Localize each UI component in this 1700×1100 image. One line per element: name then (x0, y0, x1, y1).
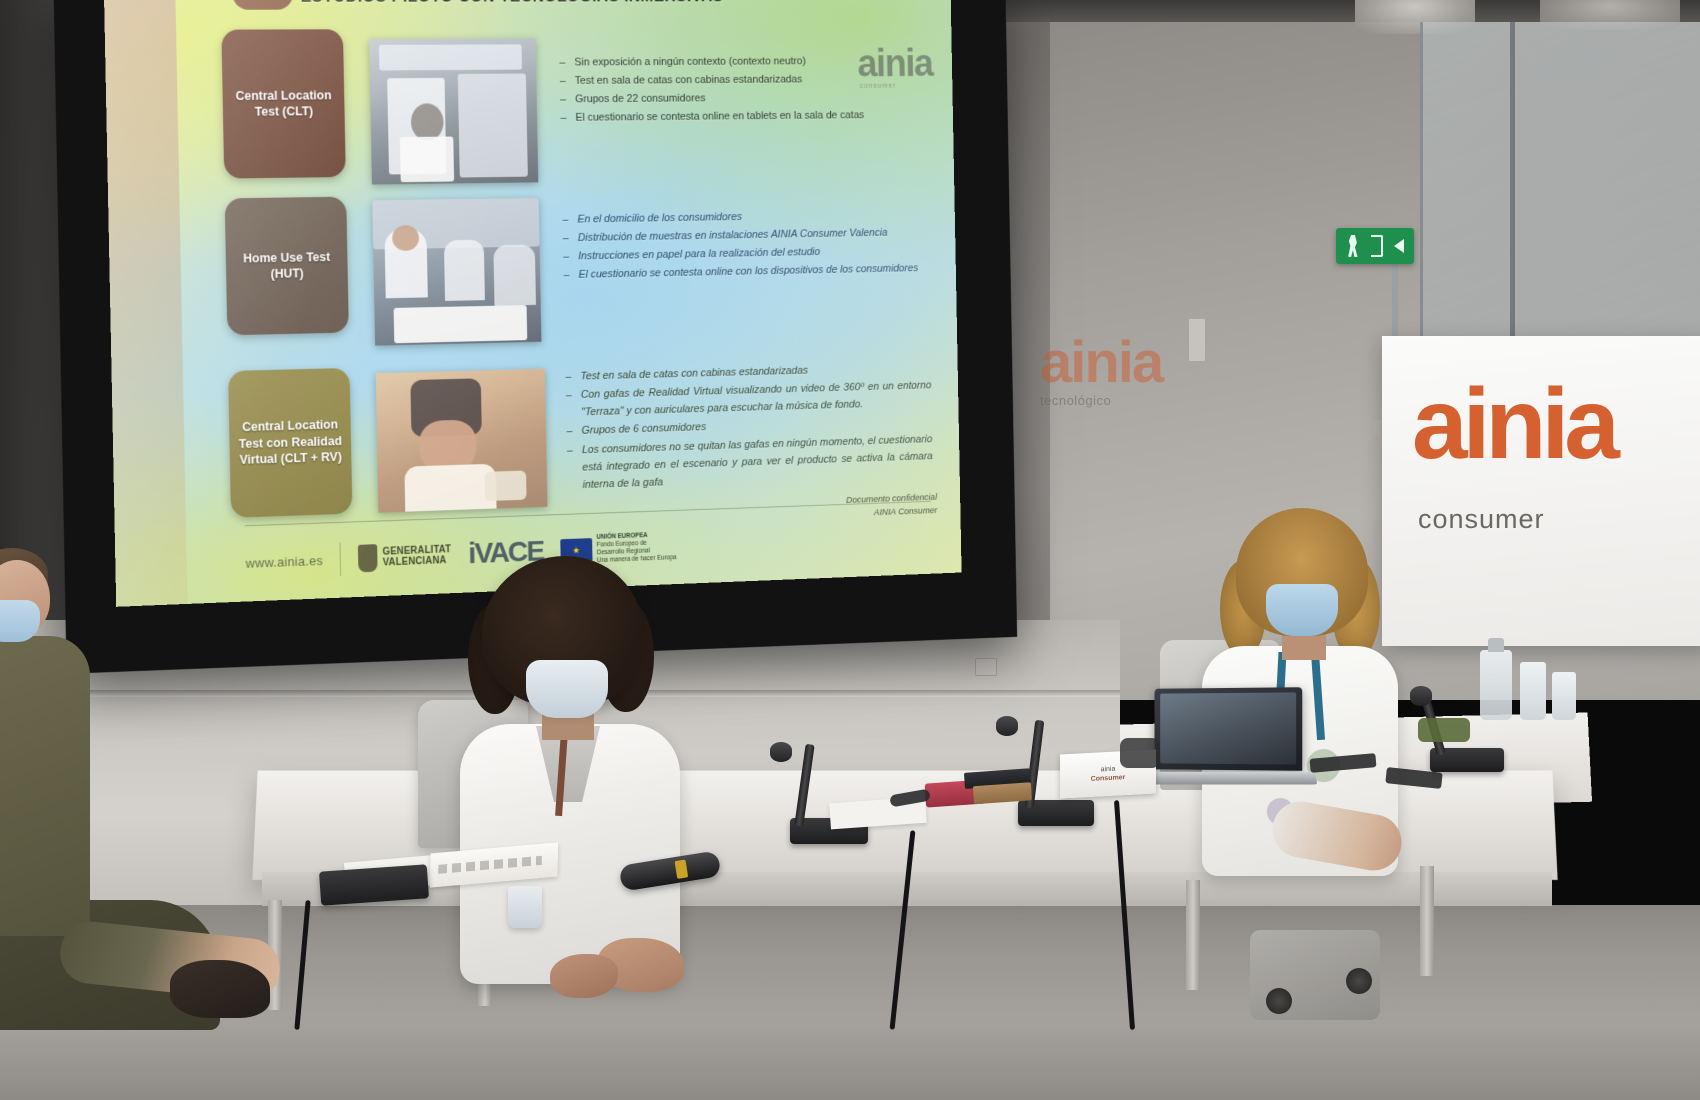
generalitat-text: GENERALITAT VALENCIANA (382, 544, 451, 569)
conference-room-photo: ainia tecnológico ainia consumer ESTUDIO… (0, 0, 1700, 1100)
water-bottle[interactable] (1520, 662, 1546, 720)
slide-title-blob (232, 0, 294, 10)
person-left-torso (0, 636, 90, 936)
crest-icon (358, 544, 378, 572)
banner-logo-name: ainia (1412, 384, 1615, 464)
nameplate-line-2: Consumer (1091, 774, 1126, 783)
section-photo-hut (372, 198, 541, 346)
emergency-exit-sign (1336, 228, 1414, 264)
small-device[interactable] (1120, 738, 1160, 768)
bullet-item: Sin exposición a ningún contexto (contex… (559, 52, 925, 71)
slide-title: ESTUDIOS PILOTO CON TECNOLOGÍAS INMERSIV… (300, 0, 897, 7)
person-left-shoe (170, 960, 270, 1018)
table-leg (1420, 866, 1434, 976)
person-center-face-mask (526, 660, 608, 718)
section-bullets-clt-rv: Test en sala de catas con cabinas estand… (565, 359, 933, 495)
door-icon (1371, 235, 1383, 257)
table-leg (1186, 880, 1200, 990)
section-tag-clt-rv: Central Location Test con Realidad Virtu… (228, 368, 352, 518)
projection-screen: ESTUDIOS PILOTO CON TECNOLOGÍAS INMERSIV… (104, 0, 962, 607)
wall-logo-sub: tecnológico (1040, 393, 1162, 408)
bullet-item: Los consumidores no se quitan las gafas … (567, 430, 933, 494)
bullet-item: Test en sala de catas con cabinas estand… (560, 70, 926, 90)
chair-wheel (1346, 968, 1372, 994)
slide-section-hut: Home Use Test (HUT) En el domicilio de l… (225, 188, 938, 355)
green-object (1418, 718, 1470, 742)
footer-url: www.ainia.es (245, 553, 323, 571)
plastic-cup[interactable] (508, 886, 542, 928)
chair-wheel (1266, 988, 1292, 1014)
section-photo-clt-rv (376, 369, 548, 513)
section-tag-hut: Home Use Test (HUT) (225, 197, 349, 336)
sanitizer-cap (1488, 638, 1504, 652)
bullet-item: El cuestionario se contesta online en ta… (560, 107, 926, 128)
ainia-consumer-banner: ainia consumer (1382, 336, 1700, 646)
section-photo-clt (369, 38, 538, 184)
laptop-screen (1160, 692, 1296, 764)
nameplate-line-1: ainia (1101, 766, 1116, 774)
slide-section-clt: Central Location Test (CLT) Sin exposici… (221, 28, 934, 187)
arrow-right-icon (1394, 239, 1404, 253)
footer-divider (340, 543, 342, 577)
running-man-icon (1347, 235, 1360, 257)
wall-logo-name: ainia (1040, 338, 1162, 387)
laptop-lid (1154, 687, 1302, 771)
card-text-lines (438, 856, 542, 874)
person-right-face-mask (1266, 584, 1338, 636)
bullet-item: Grupos de 22 consumidores (560, 88, 926, 108)
water-bottle-2[interactable] (1552, 672, 1576, 720)
generalitat-line-2: VALENCIANA (383, 555, 447, 568)
slide-section-clt-rv: Central Location Test con Realidad Virtu… (228, 353, 940, 520)
wall-logo-ainia-tecnologico: ainia tecnológico (1040, 338, 1162, 408)
wall-fixture (975, 658, 997, 676)
banner-logo-sub: consumer (1418, 504, 1545, 535)
laptop-keyboard[interactable] (1129, 772, 1318, 785)
section-tag-clt: Central Location Test (CLT) (221, 29, 345, 178)
section-bullets-clt: Sin exposición a ningún contexto (contex… (559, 52, 926, 128)
hand-sanitizer-bottle[interactable] (1480, 650, 1512, 720)
generalitat-valenciana-logo: GENERALITAT VALENCIANA (358, 541, 451, 572)
person-center-hand-2 (550, 954, 618, 998)
section-bullets-hut: En el domicilio de los consumidores Dist… (562, 206, 929, 286)
wall-bracket (1188, 318, 1206, 362)
eu-text: UNIÓN EUROPEA Fondo Europeo de Desarroll… (596, 531, 676, 565)
